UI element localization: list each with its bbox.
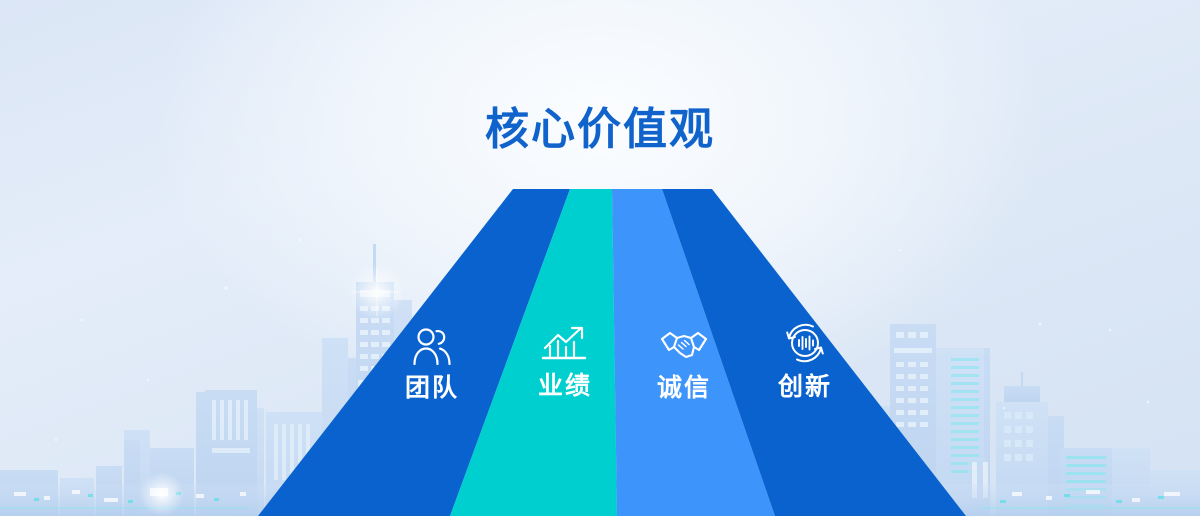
value-label-performance: 业绩 [505, 374, 625, 399]
innovation-cycle-icon [745, 321, 865, 365]
growth-chart-icon [505, 320, 625, 364]
value-label-innovation: 创新 [745, 375, 865, 400]
value-item-innovation[interactable]: 创新 [745, 321, 865, 400]
value-item-integrity[interactable]: 诚信 [624, 322, 744, 401]
value-label-team: 团队 [372, 376, 492, 401]
page-title: 核心价值观 [0, 108, 1200, 152]
value-item-team[interactable]: 团队 [372, 322, 492, 401]
pyramid-graphic [0, 0, 1200, 516]
people-icon [372, 322, 492, 366]
value-item-performance[interactable]: 业绩 [505, 320, 625, 399]
value-label-integrity: 诚信 [624, 376, 744, 401]
handshake-icon [624, 322, 744, 366]
core-values-banner: 核心价值观 团队 [0, 0, 1200, 516]
